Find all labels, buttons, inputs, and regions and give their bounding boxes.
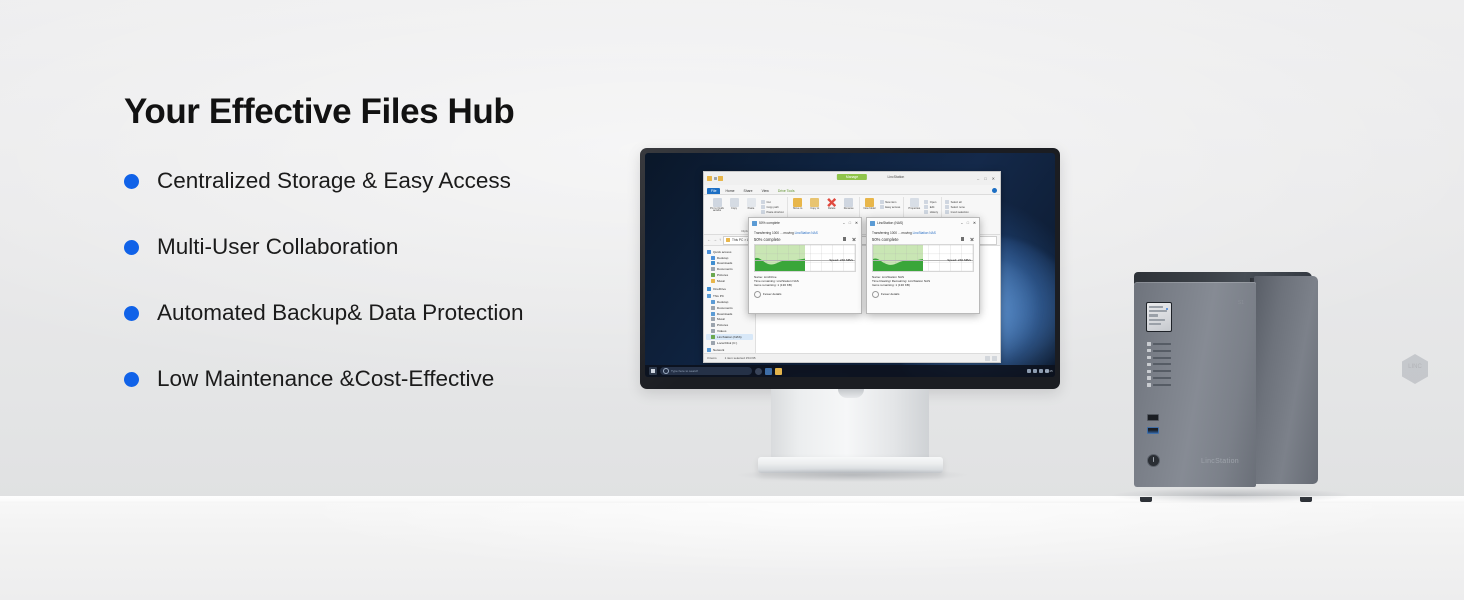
paste-shortcut-icon (761, 210, 765, 214)
start-button-icon[interactable] (649, 367, 657, 375)
ribbon-small-copy-path[interactable]: Copy path (761, 205, 784, 209)
lcd-line (1149, 310, 1167, 312)
transfer-prefix: Transferring 1000 ... moving (872, 231, 912, 235)
ribbon-button-label: Rename (844, 208, 854, 211)
progress-percent: 50% complete (754, 237, 781, 242)
ribbon-small-history[interactable]: History (924, 210, 938, 214)
ribbon-small-new-item[interactable]: New item (880, 200, 901, 204)
minimize-icon[interactable]: – (961, 221, 963, 225)
cut-icon (761, 200, 765, 204)
ribbon-small-cut[interactable]: Cut (761, 200, 784, 204)
dialog-title-bar[interactable]: 50% complete – □ ✕ (749, 218, 861, 228)
progress-percent: 50% complete (872, 237, 899, 242)
ribbon-group-row: Move to Copy to Delete (791, 197, 856, 210)
desktop-icon (711, 256, 715, 260)
sidebar-item-desktop[interactable]: Desktop📌 (706, 255, 753, 261)
maximize-icon[interactable]: □ (984, 177, 986, 181)
help-icon[interactable] (992, 188, 997, 193)
led-row (1147, 342, 1171, 346)
quick-access-toolbar[interactable] (707, 176, 723, 181)
folder-icon (726, 238, 730, 242)
explorer-taskbar-icon[interactable] (765, 368, 772, 375)
ribbon-button-delete[interactable]: Delete (825, 198, 839, 210)
search-placeholder: Type here to search (671, 369, 698, 373)
ribbon-small-label: Paste shortcut (767, 211, 784, 214)
rename-icon (844, 198, 853, 207)
ribbon-small-commands: Cut Copy path Paste shortcut (761, 198, 784, 214)
folder-icon[interactable] (718, 176, 723, 181)
documents-icon (711, 267, 715, 271)
folder-taskbar-icon[interactable] (775, 368, 782, 375)
usb-c-port[interactable] (1147, 414, 1159, 421)
tab-view[interactable]: View (758, 188, 773, 194)
star-icon (707, 250, 711, 254)
taskbar-clock[interactable]: 12:45 (1045, 369, 1049, 373)
led-label-bar (1153, 370, 1172, 372)
ribbon-tabs[interactable]: File Home Share View Drive Tools (704, 185, 1000, 195)
linc-logo-icon: LINC (1402, 354, 1428, 384)
downloads-icon (711, 261, 715, 265)
monitor-screen: Manage LincStation – □ ✕ File Home Share… (645, 153, 1055, 377)
led-label-bar (1153, 384, 1172, 386)
transfer-dialog[interactable]: 50% complete – □ ✕ Transferring 1000 ...… (748, 217, 862, 314)
downloads-icon (711, 312, 715, 316)
invert-selection-icon (945, 210, 949, 214)
explorer-title-bar[interactable]: Manage LincStation – □ ✕ (704, 172, 1000, 185)
led-row (1147, 349, 1171, 353)
taskbar-search-input[interactable]: Type here to search (660, 367, 752, 375)
ribbon-button-new-folder[interactable]: New folder (863, 198, 877, 210)
chevron-up-icon (872, 291, 879, 298)
copy-to-icon (810, 198, 819, 207)
ribbon-small-label: Open (930, 201, 937, 204)
details-view-icon[interactable] (985, 356, 990, 361)
sidebar-item-label: Pictures (717, 273, 728, 277)
led-row (1147, 363, 1171, 367)
ribbon-small-easy-access[interactable]: Easy access (880, 205, 901, 209)
delete-icon (827, 198, 836, 207)
cortana-icon[interactable] (755, 368, 762, 375)
dialog-title: LincStation (NAS) (877, 221, 903, 225)
sidebar-item-label: LincStation (NAS) (717, 335, 742, 339)
led-label-bar (1153, 343, 1172, 345)
new-folder-icon (865, 198, 874, 207)
transfer-controls[interactable] (843, 237, 856, 241)
nas-brand-label: LincStation (1184, 458, 1256, 465)
detail-items: Items remaining: 1 (130 KB) (754, 283, 856, 287)
ribbon-button-properties[interactable]: Properties (907, 198, 921, 210)
ribbon-small-label: Select none (951, 206, 965, 209)
sidebar-item-music[interactable]: Music (706, 278, 753, 284)
transfer-description: Transferring 1000 ... moving LincStation… (754, 231, 856, 235)
pictures-icon (711, 323, 715, 327)
ribbon-small-paste-shortcut[interactable]: Paste shortcut (761, 210, 784, 214)
sidebar-item-label: Music (717, 279, 725, 283)
window-title: LincStation (888, 175, 905, 179)
transfer-controls[interactable] (961, 237, 974, 241)
fewer-details-label: Fewer details (763, 292, 781, 296)
progress-row: 50% complete (872, 237, 974, 242)
tab-file[interactable]: File (707, 188, 720, 194)
transfer-dialog[interactable]: LincStation (NAS) – □ ✕ Transferring 100… (866, 217, 980, 314)
ribbon-button-copy[interactable]: Copy (727, 198, 741, 210)
led-label-bar (1153, 377, 1172, 379)
ribbon-button-move-to[interactable]: Move to (791, 198, 805, 210)
ribbon-button-label: Move to (793, 208, 802, 211)
sidebar-item-label: Music (717, 317, 725, 321)
sidebar-item-label: OneDrive (713, 287, 726, 291)
open-icon (924, 200, 928, 204)
ribbon-small-edit[interactable]: Edit (924, 205, 938, 209)
back-icon[interactable]: ← (707, 238, 711, 242)
lcd-line (1149, 314, 1158, 316)
music-icon (711, 279, 715, 283)
led-icon (1147, 363, 1151, 367)
nas-lcd-display (1146, 302, 1172, 332)
sidebar-item-local-disk[interactable]: Local Disk (C:) (706, 340, 753, 346)
transfer-target-link[interactable]: LincStation NAS (795, 231, 818, 235)
ribbon-button-copy-to[interactable]: Copy to (808, 198, 822, 210)
progress-row: 50% complete (754, 237, 856, 242)
chevron-up-icon[interactable] (1027, 369, 1031, 373)
monitor: Manage LincStation – □ ✕ File Home Share… (640, 148, 1060, 389)
ribbon-small-select-all[interactable]: Select all (945, 200, 969, 204)
bullet-dot-icon (124, 306, 139, 321)
sidebar-item-onedrive[interactable]: OneDrive (706, 286, 753, 292)
copy-progress-icon (870, 221, 875, 226)
pause-icon[interactable] (843, 237, 846, 241)
power-button[interactable] (1147, 454, 1160, 467)
minimize-icon[interactable]: – (977, 177, 979, 181)
view-mode-buttons[interactable] (985, 356, 997, 361)
ribbon-group-row: Pin to Quick access Copy Paste (710, 197, 784, 214)
status-bar: 3 items 1 item selected 154 KB (704, 353, 1000, 362)
transfer-details: Name: LincDrive Time remaining: LincStat… (754, 275, 856, 288)
transfer-details: Name: LincStation NAS Time blasting/ Rem… (872, 275, 974, 288)
nas-device: LINC S1 LincStation (1126, 272, 1326, 497)
up-icon[interactable]: ↑ (719, 238, 721, 242)
ribbon-small-label: Select all (951, 201, 962, 204)
sidebar-item-label: Documents (717, 306, 733, 310)
volume-tray-icon[interactable] (1039, 369, 1043, 373)
monitor-shadow (735, 468, 970, 482)
ribbon-button-label: Copy (731, 208, 737, 211)
pictures-icon (711, 273, 715, 277)
list-item: Low Maintenance &Cost-Effective (124, 366, 644, 392)
list-item: Automated Backup& Data Protection (124, 300, 644, 326)
sidebar-item-label: Network (713, 348, 724, 352)
windows-logo-icon (651, 369, 655, 373)
nas-ports (1147, 414, 1169, 440)
select-none-icon (945, 205, 949, 209)
led-icon (1147, 370, 1151, 374)
desktop-icon (711, 300, 715, 304)
ribbon-button-label: Pin to Quick access (710, 208, 724, 213)
list-item: Centralized Storage & Easy Access (124, 168, 644, 194)
ribbon-small-label: History (930, 211, 938, 214)
ribbon-button-rename[interactable]: Rename (842, 198, 856, 210)
sidebar-item-pc-documents[interactable]: Documents (706, 305, 753, 311)
led-icon (1147, 342, 1151, 346)
pause-icon[interactable] (961, 237, 964, 241)
documents-icon (711, 306, 715, 310)
maximize-icon[interactable]: □ (849, 221, 851, 225)
dialog-title-bar[interactable]: LincStation (NAS) – □ ✕ (867, 218, 979, 228)
bullet-dot-icon (124, 372, 139, 387)
easy-access-icon (880, 205, 884, 209)
transfer-target-link[interactable]: LincStation NAS (913, 231, 936, 235)
folder-icon[interactable] (707, 176, 712, 181)
led-row (1147, 376, 1171, 380)
dialog-body: Transferring 1000 ... moving LincStation… (867, 228, 979, 313)
transfer-description: Transferring 1000 ... moving LincStation… (872, 231, 974, 235)
shelf-sheen (0, 503, 1464, 600)
network-icon (707, 348, 711, 352)
close-icon[interactable]: ✕ (973, 221, 976, 225)
dialog-window-controls[interactable]: – □ ✕ (843, 221, 858, 225)
ribbon-button-label: Properties (908, 208, 920, 211)
lcd-line (1149, 306, 1163, 308)
copy-icon (730, 198, 739, 207)
sidebar-item-label: Downloads (717, 312, 732, 316)
ribbon-small-label: Invert selection (951, 211, 969, 214)
close-icon[interactable]: ✕ (855, 221, 858, 225)
banner-stage: Your Effective Files Hub Centralized Sto… (0, 0, 1464, 600)
speed-label: Speed: 230 MB/s (829, 258, 853, 262)
sidebar-item-label: Desktop (717, 256, 728, 260)
pin-icon (713, 198, 722, 207)
detail-items: Items remaining: 1 (130 KB) (872, 283, 974, 287)
nas-shadow (1112, 488, 1350, 503)
sidebar-item-label: This PC (713, 294, 724, 298)
status-item-count: 3 items (707, 356, 717, 360)
sidebar-item-pc-downloads[interactable]: Downloads (706, 311, 753, 317)
led-label-bar (1153, 350, 1172, 352)
nas-led-indicators (1147, 342, 1171, 390)
ribbon-small-label: New item (885, 201, 896, 204)
cancel-icon[interactable] (852, 237, 856, 241)
tab-home[interactable]: Home (721, 188, 738, 194)
lcd-line (1149, 319, 1165, 321)
close-icon[interactable]: ✕ (992, 177, 995, 181)
taskbar[interactable]: Type here to search 12:45 (645, 365, 1055, 377)
speed-graph: Speed: 230 MB/s (754, 244, 856, 272)
lcd-status-dot (1166, 308, 1168, 310)
led-row (1147, 356, 1171, 360)
feature-label: Multi-User Collaboration (157, 234, 398, 260)
move-to-icon (793, 198, 802, 207)
linc-logo-text: LINC (1402, 364, 1428, 370)
ribbon-small-commands: Select all Select none Invert selection (945, 198, 969, 214)
led-icon (1147, 383, 1151, 387)
save-icon[interactable] (714, 177, 717, 180)
maximize-icon[interactable]: □ (967, 221, 969, 225)
minimize-icon[interactable]: – (843, 221, 845, 225)
paste-icon (747, 198, 756, 207)
ribbon-small-label: Cut (767, 201, 771, 204)
sidebar-item-quick-access[interactable]: Quick access (706, 249, 753, 255)
monitor-stand-neck (771, 389, 929, 459)
ribbon-group-row: Select all Select none Invert selection (945, 197, 969, 214)
fewer-details-label: Fewer details (881, 292, 899, 296)
ribbon-small-open[interactable]: Open (924, 200, 938, 204)
tab-share[interactable]: Share (740, 188, 757, 194)
feature-label: Low Maintenance &Cost-Effective (157, 366, 494, 392)
ribbon-small-commands: New item Easy access (880, 198, 901, 209)
copy-path-icon (761, 205, 765, 209)
ribbon-group-row: Properties Open Edit History (907, 197, 938, 214)
chevron-up-icon (754, 291, 761, 298)
ribbon-small-label: Easy access (885, 206, 900, 209)
speed-curve (755, 255, 805, 271)
copy-progress-icon (752, 221, 757, 226)
history-icon (924, 210, 928, 214)
ribbon-button-label: Paste (748, 208, 755, 211)
dialog-title: 50% complete (759, 221, 780, 225)
sidebar-item-label: Local Disk (C:) (717, 341, 737, 345)
feature-list: Centralized Storage & Easy Access Multi-… (124, 168, 644, 392)
forward-icon[interactable]: → (713, 238, 717, 242)
edit-icon (924, 205, 928, 209)
feature-label: Centralized Storage & Easy Access (157, 168, 511, 194)
sidebar-item-label: Quick access (713, 250, 731, 254)
sidebar-item-lincstation-nas[interactable]: LincStation (NAS) (706, 334, 753, 340)
transfer-prefix: Transferring 1000 ... moving (754, 231, 794, 235)
led-row (1147, 370, 1171, 374)
feature-label: Automated Backup& Data Protection (157, 300, 523, 326)
ribbon-button-label: New folder (863, 208, 875, 211)
marketing-copy: Your Effective Files Hub Centralized Sto… (124, 92, 644, 432)
nas-control-panel (1134, 284, 1168, 484)
sidebar-item-label: Videos (717, 329, 726, 333)
cloud-icon (707, 287, 711, 291)
contextual-tab-manage[interactable]: Manage (837, 174, 867, 180)
led-row (1147, 383, 1171, 387)
music-icon (711, 317, 715, 321)
system-tray[interactable]: 12:45 (1027, 369, 1051, 373)
ribbon-small-select-none[interactable]: Select none (945, 205, 969, 209)
sidebar-item-label: Desktop (717, 300, 728, 304)
fewer-details-toggle[interactable]: Fewer details (754, 291, 856, 298)
sidebar-item-label: Downloads (717, 261, 732, 265)
nas-side-panel: LINC (1254, 276, 1318, 484)
led-icon (1147, 376, 1151, 380)
speed-graph: Speed: 230 MB/s (872, 244, 974, 272)
led-label-bar (1153, 363, 1172, 365)
nas-drive-icon (711, 335, 715, 339)
bullet-dot-icon (124, 240, 139, 255)
nas-model-mark: S1 (1238, 300, 1244, 306)
list-item: Multi-User Collaboration (124, 234, 644, 260)
ribbon-small-label: Edit (930, 206, 935, 209)
lcd-line (1149, 323, 1161, 325)
fewer-details-toggle[interactable]: Fewer details (872, 291, 974, 298)
network-tray-icon[interactable] (1033, 369, 1037, 373)
led-icon (1147, 356, 1151, 360)
sidebar-item-label: Documents (717, 267, 733, 271)
ribbon-group-row: New folder New item Easy access (863, 197, 901, 210)
large-icons-view-icon[interactable] (992, 356, 997, 361)
new-item-icon (880, 200, 884, 204)
speed-label: Speed: 230 MB/s (947, 258, 971, 262)
dialog-window-controls[interactable]: – □ ✕ (961, 221, 976, 225)
dialog-body: Transferring 1000 ... moving LincStation… (749, 228, 861, 313)
ribbon-button-pin[interactable]: Pin to Quick access (710, 198, 724, 213)
bullet-dot-icon (124, 174, 139, 189)
window-controls[interactable]: – □ ✕ (977, 177, 997, 181)
ribbon-button-paste[interactable]: Paste (744, 198, 758, 210)
tab-drive-tools[interactable]: Drive Tools (774, 188, 799, 194)
properties-icon (910, 198, 919, 207)
speed-curve (873, 255, 923, 271)
ribbon-small-commands: Open Edit History (924, 198, 938, 214)
led-label-bar (1153, 357, 1172, 359)
search-icon (663, 368, 669, 374)
led-icon (1147, 349, 1151, 353)
ribbon-button-label: Copy to (810, 208, 819, 211)
pc-icon (707, 294, 711, 298)
ribbon-small-label: Copy path (767, 206, 779, 209)
videos-icon (711, 329, 715, 333)
sidebar-item-label: Pictures (717, 323, 728, 327)
disk-icon (711, 341, 715, 345)
ribbon-button-label: Delete (828, 208, 836, 211)
monitor-bezel: Manage LincStation – □ ✕ File Home Share… (640, 148, 1060, 389)
page-title: Your Effective Files Hub (124, 92, 644, 132)
status-selection: 1 item selected 154 KB (725, 356, 756, 360)
usb3-port[interactable] (1147, 427, 1159, 434)
ribbon-small-invert-selection[interactable]: Invert selection (945, 210, 969, 214)
cancel-icon[interactable] (970, 237, 974, 241)
select-all-icon (945, 200, 949, 204)
